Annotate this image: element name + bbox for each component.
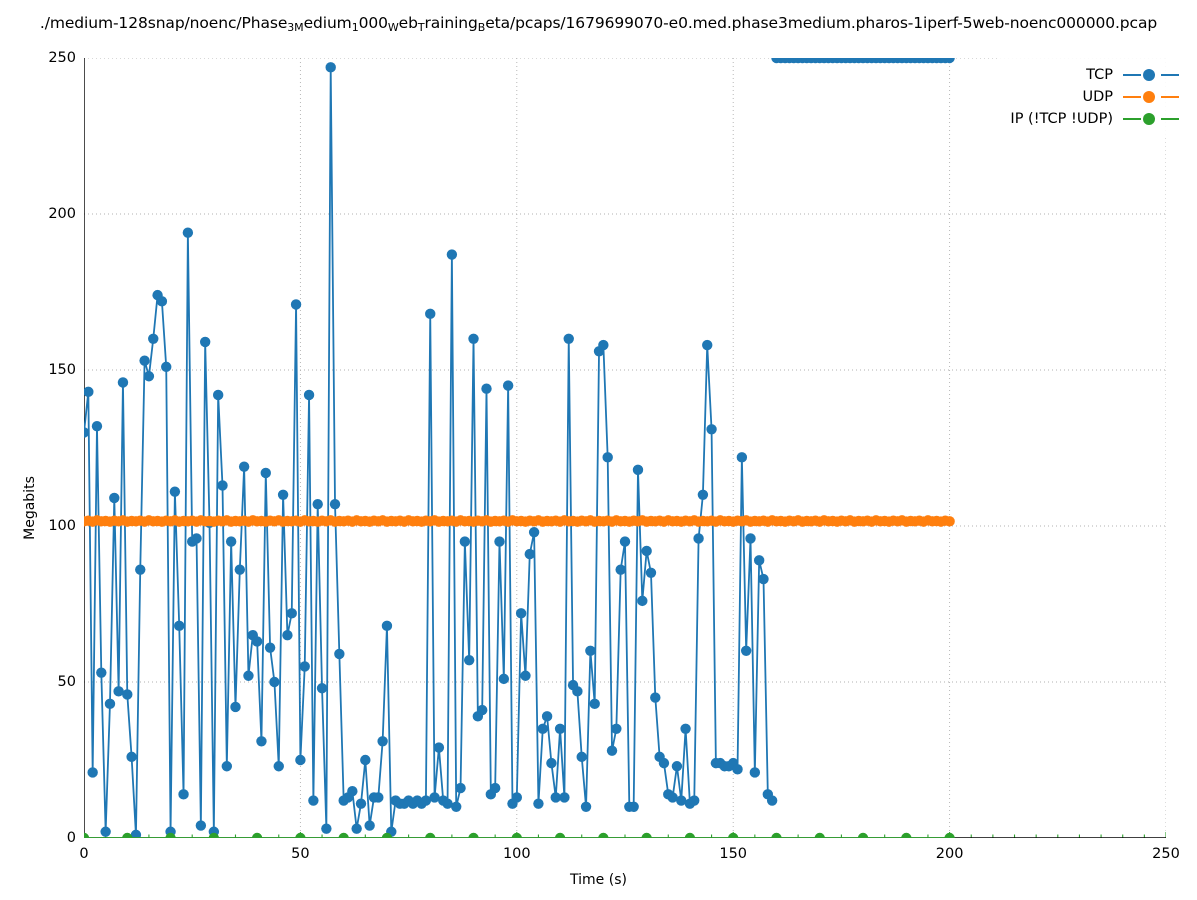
data-point <box>641 546 651 556</box>
data-point <box>252 833 262 838</box>
data-point <box>425 833 435 838</box>
data-point <box>321 823 331 833</box>
data-point <box>282 630 292 640</box>
title-text: ./medium-128snap/noenc/Phase <box>40 14 287 32</box>
data-point <box>741 646 751 656</box>
data-point <box>122 689 132 699</box>
legend-entry[interactable]: TCP <box>1010 64 1179 86</box>
data-point <box>252 636 262 646</box>
y-tick-label: 0 <box>16 830 76 846</box>
data-point <box>174 621 184 631</box>
data-point <box>287 608 297 618</box>
data-point <box>382 621 392 631</box>
data-point <box>464 655 474 665</box>
legend-entry[interactable]: IP (!TCP !UDP) <box>1010 108 1179 130</box>
title-text: 000 <box>359 14 388 32</box>
data-point <box>598 340 608 350</box>
data-point <box>771 833 781 838</box>
legend-swatch <box>1123 112 1179 126</box>
data-point <box>135 564 145 574</box>
y-axis-tick-labels: 050100150200250 <box>8 58 76 838</box>
x-tick-label: 50 <box>260 846 340 862</box>
data-point <box>425 309 435 319</box>
data-point <box>338 833 348 838</box>
data-point <box>100 827 110 837</box>
data-point <box>144 371 154 381</box>
legend-label: IP (!TCP !UDP) <box>1010 111 1113 127</box>
data-point <box>590 699 600 709</box>
title-subscript: W <box>388 21 399 34</box>
data-point <box>235 564 245 574</box>
data-point <box>481 384 491 394</box>
data-point <box>265 642 275 652</box>
data-point <box>525 549 535 559</box>
data-point <box>178 789 188 799</box>
data-point <box>702 340 712 350</box>
data-point <box>183 228 193 238</box>
data-point <box>685 833 695 838</box>
data-point <box>460 536 470 546</box>
data-point <box>377 736 387 746</box>
data-point <box>641 833 651 838</box>
title-text: raining <box>424 14 477 32</box>
y-tick-label: 100 <box>16 518 76 534</box>
title-text: eta/pcaps/1679699070-e0.med.phase3medium… <box>485 14 1157 32</box>
data-point <box>295 755 305 765</box>
data-point <box>269 677 279 687</box>
data-point <box>944 516 954 526</box>
data-point <box>750 767 760 777</box>
data-point <box>308 795 318 805</box>
data-point <box>126 752 136 762</box>
data-point <box>737 452 747 462</box>
data-point <box>87 767 97 777</box>
y-tick-label: 50 <box>16 674 76 690</box>
data-point <box>512 792 522 802</box>
data-point <box>434 742 444 752</box>
data-point <box>230 702 240 712</box>
data-point <box>650 692 660 702</box>
data-point <box>767 795 777 805</box>
data-point <box>84 833 89 838</box>
data-point <box>503 380 513 390</box>
gridlines <box>84 58 1166 838</box>
data-point <box>356 798 366 808</box>
data-point <box>572 686 582 696</box>
legend-marker-dot <box>1143 69 1155 81</box>
data-point <box>689 795 699 805</box>
series-tcp <box>84 58 955 838</box>
legend-line-left <box>1123 96 1141 98</box>
data-point <box>84 387 94 397</box>
data-point <box>105 699 115 709</box>
data-point <box>529 527 539 537</box>
data-point <box>191 533 201 543</box>
data-point <box>278 490 288 500</box>
data-point <box>200 337 210 347</box>
data-point <box>304 390 314 400</box>
figure-title: ./medium-128snap/noenc/Phase3Medium1000W… <box>0 14 1197 32</box>
legend-swatch <box>1123 68 1179 82</box>
data-point <box>646 568 656 578</box>
data-point <box>555 833 565 838</box>
data-point <box>330 499 340 509</box>
data-point <box>157 296 167 306</box>
title-text: eb <box>399 14 418 32</box>
chart-figure: ./medium-128snap/noenc/Phase3Medium1000W… <box>0 0 1197 900</box>
data-point <box>628 802 638 812</box>
x-tick-label: 200 <box>910 846 990 862</box>
data-point <box>564 334 574 344</box>
x-axis-tick-labels: 050100150200250 <box>84 846 1166 870</box>
data-point <box>217 480 227 490</box>
legend-marker-dot <box>1143 113 1155 125</box>
data-point <box>659 758 669 768</box>
data-point <box>559 792 569 802</box>
data-point <box>161 362 171 372</box>
data-point <box>351 823 361 833</box>
data-point <box>274 761 284 771</box>
data-point <box>577 752 587 762</box>
legend-marker-dot <box>1143 91 1155 103</box>
data-point <box>693 533 703 543</box>
data-point <box>451 802 461 812</box>
data-point <box>858 833 868 838</box>
title-text: edium <box>304 14 352 32</box>
legend: TCPUDPIP (!TCP !UDP) <box>1000 58 1187 136</box>
legend-entry[interactable]: UDP <box>1010 86 1179 108</box>
data-point <box>139 355 149 365</box>
title-subscript: B <box>478 21 485 34</box>
plot-svg <box>84 58 1166 838</box>
data-point <box>373 792 383 802</box>
series-iptcpudp <box>84 833 955 838</box>
x-tick-label: 0 <box>44 846 124 862</box>
data-point <box>620 536 630 546</box>
data-point <box>364 820 374 830</box>
data-point <box>815 833 825 838</box>
data-point <box>611 724 621 734</box>
data-point <box>347 786 357 796</box>
data-point <box>256 736 266 746</box>
data-point <box>490 783 500 793</box>
data-point <box>633 465 643 475</box>
title-subscript: 3M <box>287 21 303 34</box>
axis-ticks <box>84 58 1166 838</box>
series-udp <box>84 515 955 527</box>
data-point <box>170 486 180 496</box>
data-point <box>901 833 911 838</box>
data-point <box>222 761 232 771</box>
data-point <box>754 555 764 565</box>
data-point <box>447 249 457 259</box>
data-point <box>326 62 336 72</box>
data-point <box>118 377 128 387</box>
data-point <box>313 499 323 509</box>
data-point <box>706 424 716 434</box>
data-point <box>615 564 625 574</box>
data-point <box>455 783 465 793</box>
data-point <box>555 724 565 734</box>
data-point <box>542 711 552 721</box>
legend-line-left <box>1123 118 1141 120</box>
y-tick-label: 150 <box>16 362 76 378</box>
data-point <box>360 755 370 765</box>
data-point <box>334 649 344 659</box>
data-point <box>239 462 249 472</box>
x-tick-label: 150 <box>693 846 773 862</box>
data-point <box>317 683 327 693</box>
data-point <box>602 452 612 462</box>
y-tick-label: 250 <box>16 50 76 66</box>
data-point <box>226 536 236 546</box>
title-subscript: 1 <box>352 21 359 34</box>
data-point <box>598 833 608 838</box>
data-point <box>732 764 742 774</box>
series-line <box>84 67 772 835</box>
legend-line-right <box>1161 96 1179 98</box>
data-point <box>148 334 158 344</box>
y-tick-label: 200 <box>16 206 76 222</box>
data-point <box>96 667 106 677</box>
data-point <box>494 536 504 546</box>
data-point <box>109 493 119 503</box>
x-tick-label: 250 <box>1126 846 1197 862</box>
data-point <box>581 802 591 812</box>
x-axis-label: Time (s) <box>0 872 1197 888</box>
legend-label: TCP <box>1086 67 1113 83</box>
data-point <box>585 646 595 656</box>
data-point <box>261 468 271 478</box>
x-tick-label: 100 <box>477 846 557 862</box>
data-point <box>680 724 690 734</box>
data-point <box>300 661 310 671</box>
legend-swatch <box>1123 90 1179 104</box>
legend-line-left <box>1123 74 1141 76</box>
legend-label: UDP <box>1082 89 1113 105</box>
data-point <box>637 596 647 606</box>
data-point <box>477 705 487 715</box>
data-point <box>499 674 509 684</box>
data-point <box>533 798 543 808</box>
data-point <box>745 533 755 543</box>
data-point <box>758 574 768 584</box>
data-point <box>728 833 738 838</box>
data-point <box>516 608 526 618</box>
legend-line-right <box>1161 74 1179 76</box>
data-point <box>672 761 682 771</box>
data-point <box>512 833 522 838</box>
data-point <box>213 390 223 400</box>
title-subscript: T <box>418 21 425 34</box>
data-point <box>243 671 253 681</box>
data-point <box>92 421 102 431</box>
data-point <box>295 833 305 838</box>
data-point <box>196 820 206 830</box>
data-point <box>944 833 954 838</box>
data-point <box>468 833 478 838</box>
data-point <box>698 490 708 500</box>
data-point <box>546 758 556 768</box>
data-point <box>520 671 530 681</box>
data-point <box>538 724 548 734</box>
data-point <box>468 334 478 344</box>
data-point <box>291 299 301 309</box>
plot-area <box>84 58 1166 838</box>
legend-line-right <box>1161 118 1179 120</box>
data-point <box>607 745 617 755</box>
